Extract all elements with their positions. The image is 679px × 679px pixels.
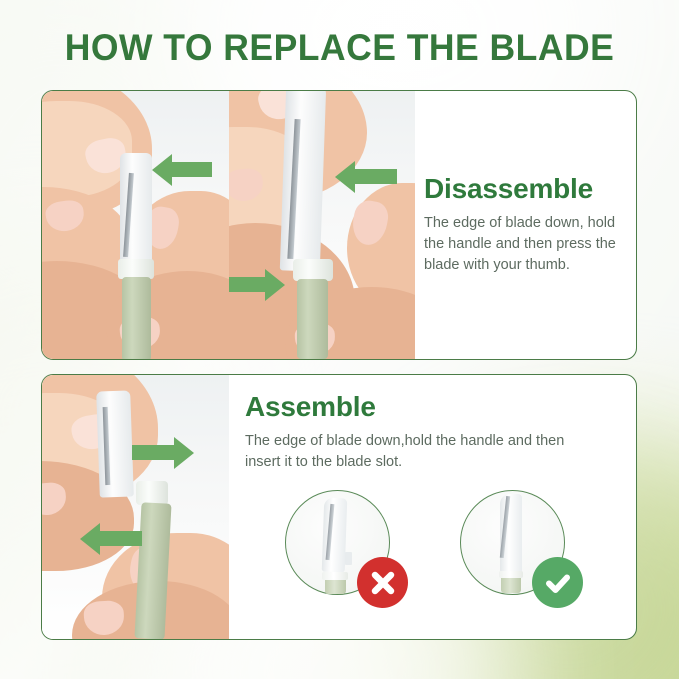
assemble-heading: Assemble	[245, 391, 597, 423]
assemble-body: The edge of blade down,hold the handle a…	[245, 431, 597, 473]
hand-inserting-blade-photo	[42, 375, 229, 639]
page-title: HOW TO REPLACE THE BLADE	[14, 26, 666, 70]
incorrect-assembly	[285, 485, 445, 615]
arrow-right-icon	[132, 437, 194, 469]
assemble-text-block: Assemble The edge of blade down,hold the…	[245, 391, 597, 473]
disassemble-body: The edge of blade down, hold the handle …	[424, 213, 629, 276]
hand-separating-blade-photo	[229, 91, 415, 359]
arrow-left-icon	[152, 154, 212, 186]
arrow-right-icon	[229, 269, 285, 301]
disassemble-panel: Disassemble The edge of blade down, hold…	[41, 90, 637, 360]
disassemble-text-block: Disassemble The edge of blade down, hold…	[424, 173, 629, 276]
hand-holding-tool-photo	[42, 91, 229, 359]
correct-assembly	[460, 485, 620, 615]
disassemble-heading: Disassemble	[424, 173, 629, 205]
cross-icon	[357, 557, 408, 608]
check-icon	[532, 557, 583, 608]
arrow-left-icon	[335, 161, 397, 193]
assemble-panel: Assemble The edge of blade down,hold the…	[41, 374, 637, 640]
arrow-left-icon	[80, 523, 142, 555]
